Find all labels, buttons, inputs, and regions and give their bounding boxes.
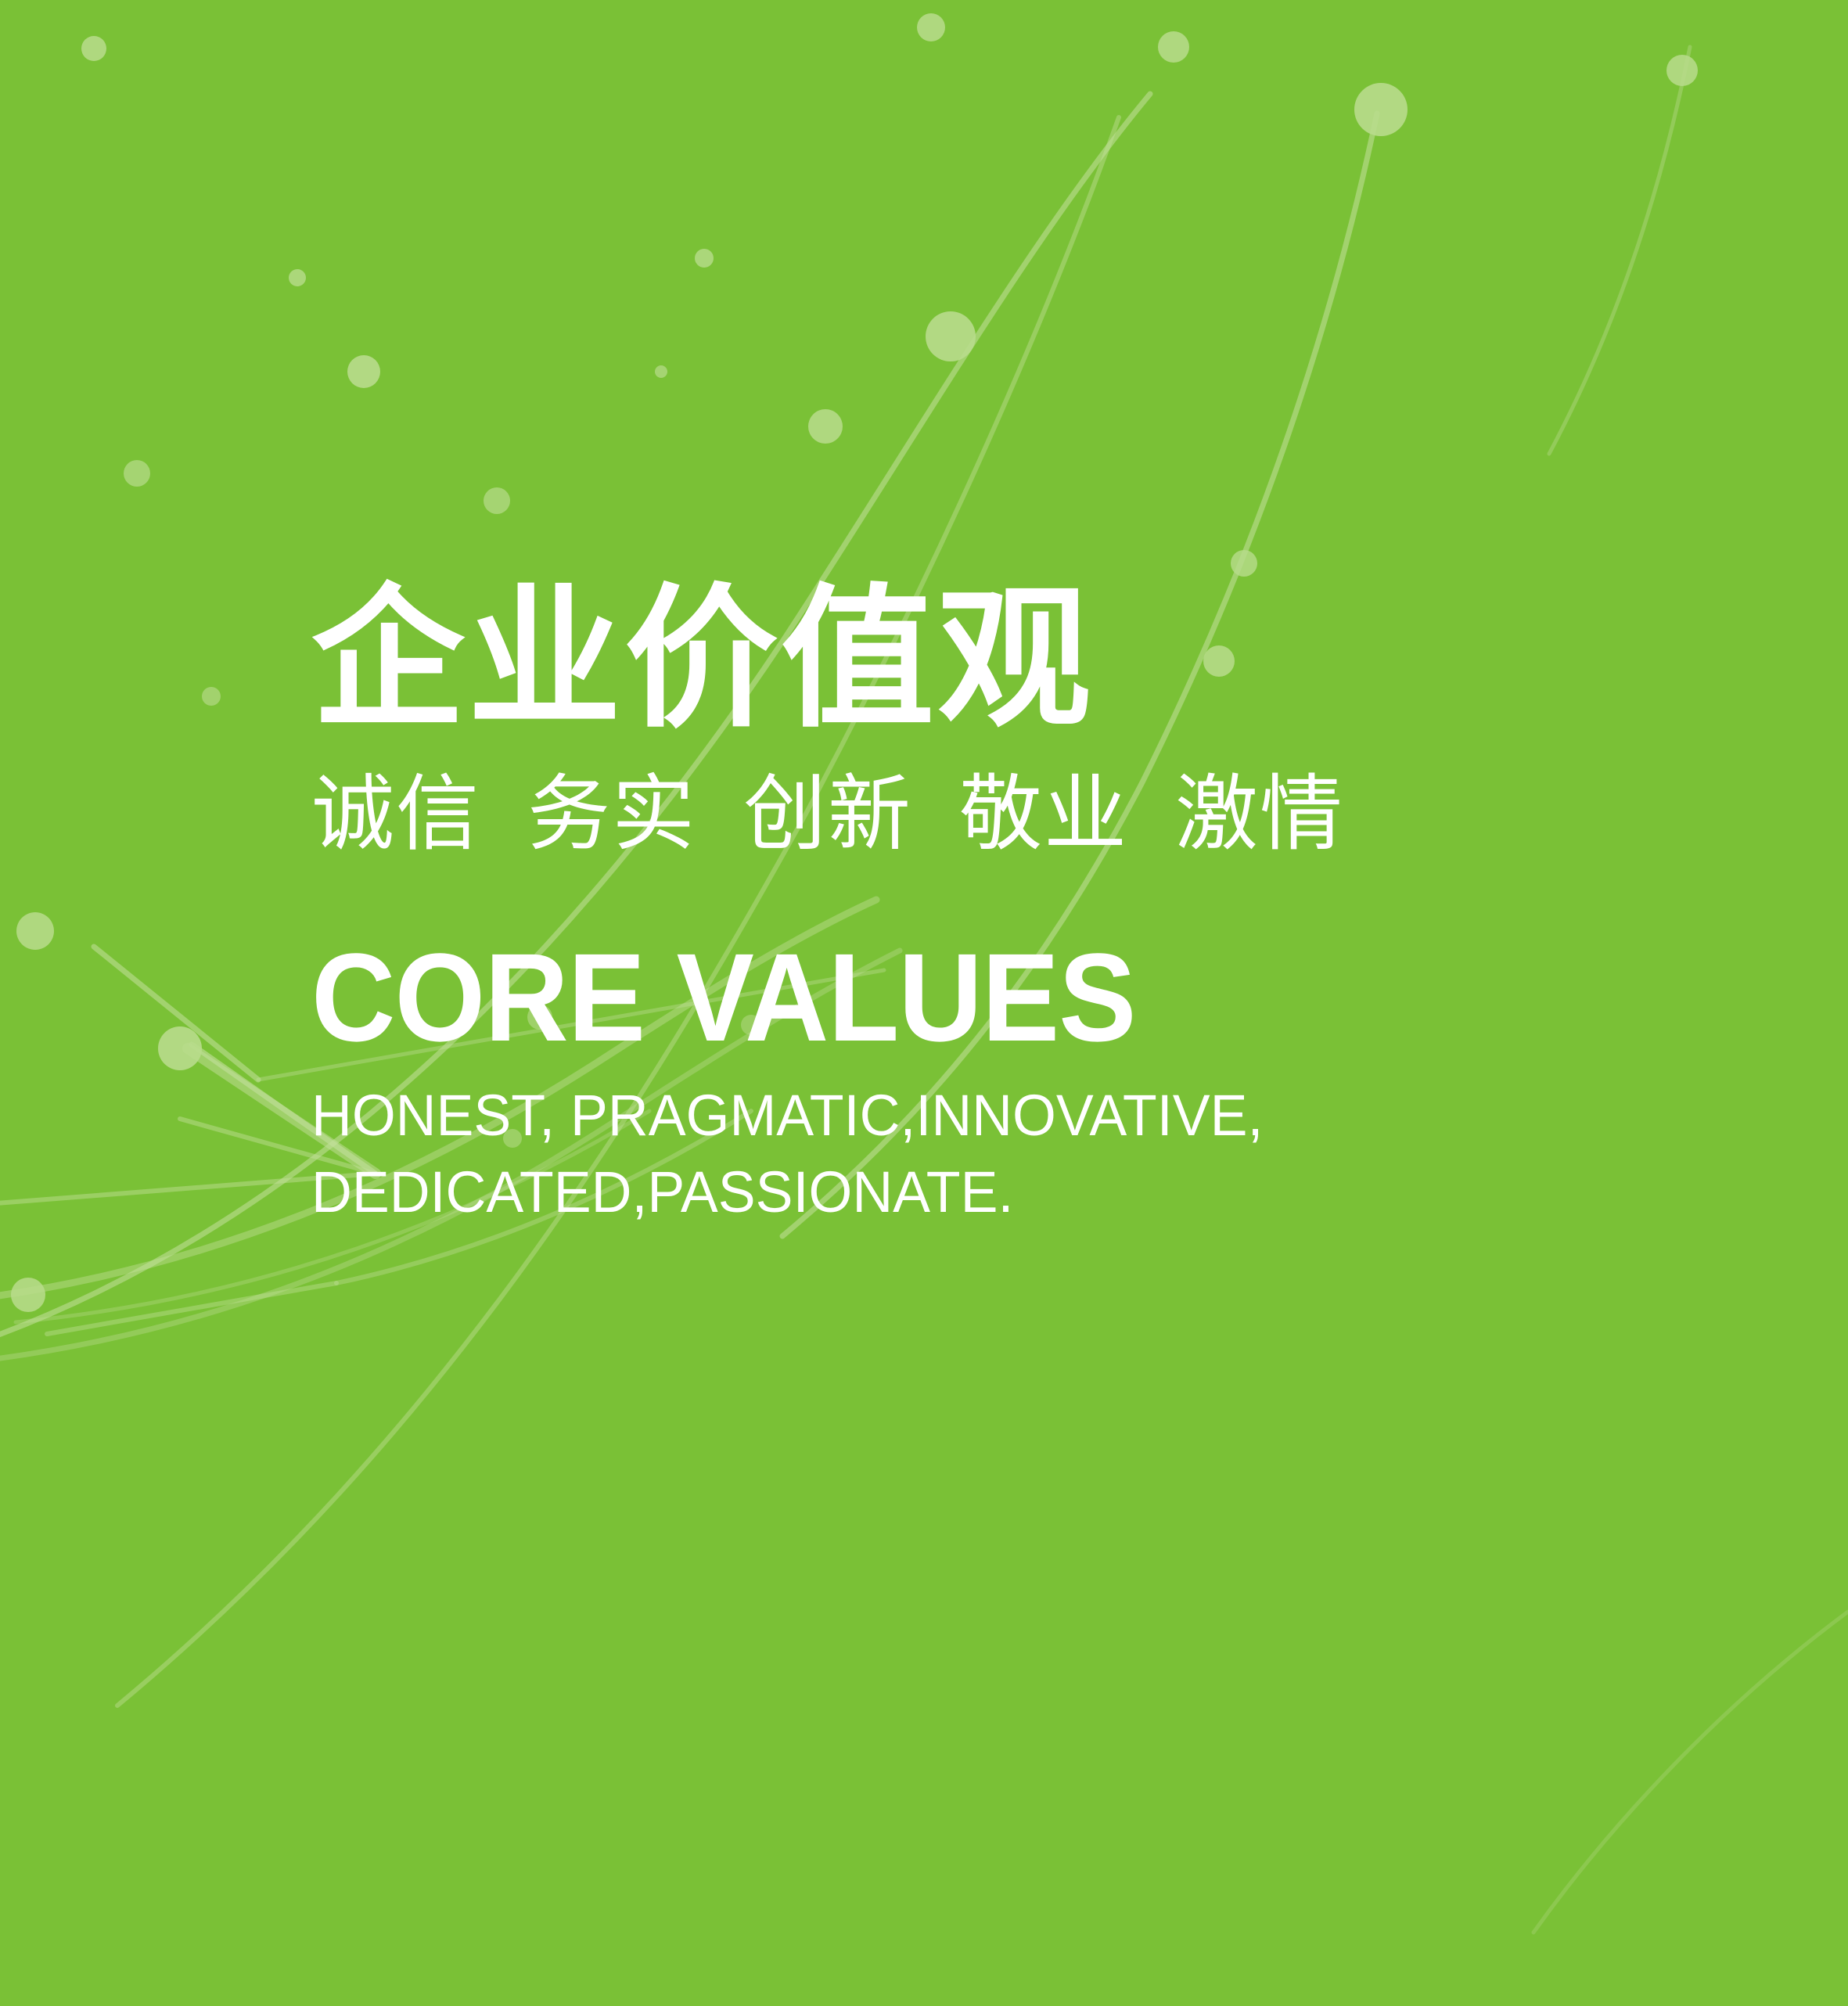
page-title: 企业价值观 [311,581,1688,740]
value-word-dedication: 敬业 [959,766,1128,862]
subtitle-chinese: 诚信务实创新敬业激情 [311,765,1688,863]
value-word-pragmatic: 务实 [527,766,696,862]
subtitle-english-line-1: HONEST, PRAGMATIC,INNOVATIVE, [311,1077,1647,1154]
poster-text-block: 企业价值观 诚信务实创新敬业激情 CORE VALUES HONEST, PRA… [311,581,1688,1230]
value-word-passion: 激情 [1175,766,1344,862]
core-values-poster: 企业价值观 诚信务实创新敬业激情 CORE VALUES HONEST, PRA… [0,0,1848,2006]
subtitle-english-line-2: DEDICATED,PASSIONATE. [311,1154,1647,1231]
subtitle-english: HONEST, PRAGMATIC,INNOVATIVE, DEDICATED,… [311,1077,1647,1230]
page-title-english: CORE VALUES [311,935,1592,1060]
value-word-innovation: 创新 [743,766,912,862]
value-word-integrity: 诚信 [311,766,480,862]
